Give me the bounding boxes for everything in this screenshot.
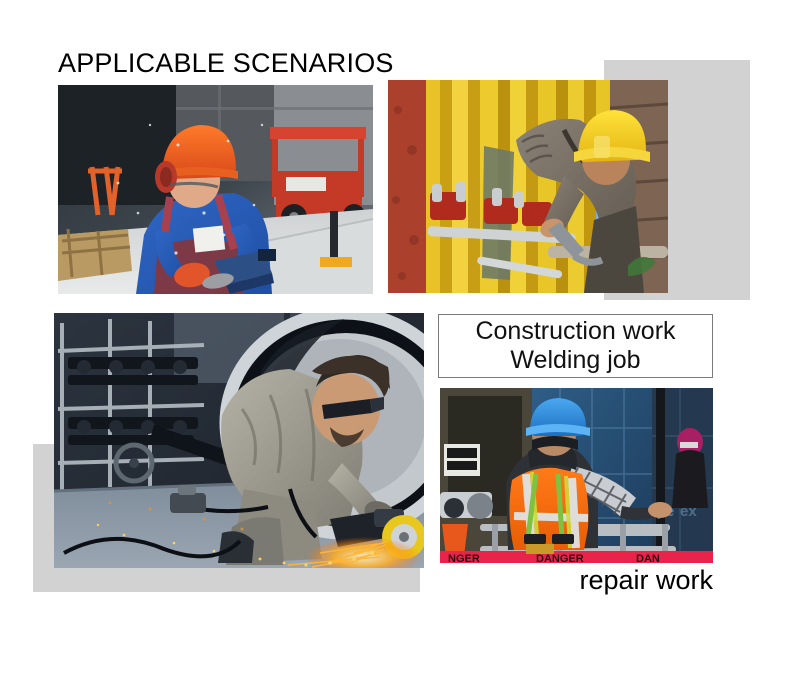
caption-line-2: Welding job	[510, 346, 640, 375]
photo-scaffold: expe ex	[440, 388, 713, 563]
photo-formwork	[388, 80, 668, 293]
svg-text:NGER: NGER	[448, 553, 480, 563]
svg-text:DAN: DAN	[636, 553, 660, 563]
caption-line-1: Construction work	[475, 317, 675, 346]
svg-text:DANGER: DANGER	[536, 553, 584, 563]
page-title: APPLICABLE SCENARIOS	[58, 46, 394, 80]
repair-work-label: repair work	[438, 563, 713, 597]
scenarios-slide: APPLICABLE SCENARIOS	[0, 0, 790, 674]
photo-grinding	[58, 85, 373, 294]
photo-welding	[54, 313, 424, 568]
caption-box: Construction work Welding job	[438, 314, 713, 378]
